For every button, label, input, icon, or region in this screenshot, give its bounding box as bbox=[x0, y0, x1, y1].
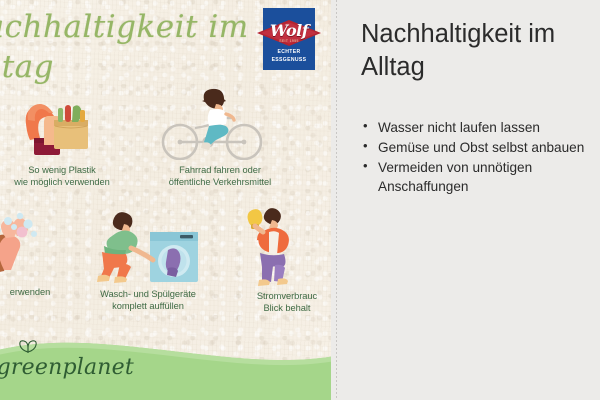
hashtag-greenplanet: #greenplanet bbox=[0, 355, 134, 380]
person-with-lightbulb-icon bbox=[222, 208, 331, 286]
tip-caption-bike: Fahrrad fahren oder öffentliche Verkehrs… bbox=[140, 165, 300, 189]
infographic-image-panel: Nachhaltigkeit im Alltag Wolf SEIT 1955 … bbox=[0, 0, 331, 400]
tip-caption-power: Stromverbrauc Blick behalt bbox=[222, 291, 331, 315]
tip-card-wash: Wasch- und Spülgeräte komplett auffüllen bbox=[68, 208, 228, 313]
tip-card-plastic: So wenig Plastik wie möglich verwenden bbox=[0, 96, 132, 189]
slide-canvas: Nachhaltigkeit im Alltag Wolf SEIT 1955 … bbox=[0, 0, 600, 400]
tip-caption-plastic: So wenig Plastik wie möglich verwenden bbox=[0, 165, 132, 189]
page-title: Nachhaltigkeit im Alltag bbox=[361, 18, 593, 84]
person-loading-washing-machine-icon bbox=[68, 208, 228, 284]
infographic-headline: Nachhaltigkeit im Alltag bbox=[0, 8, 258, 87]
text-content-panel: Nachhaltigkeit im Alltag Wasser nicht la… bbox=[337, 0, 600, 400]
logo-established-text: SEIT 1955 bbox=[263, 39, 315, 43]
logo-wordmark: Wolf bbox=[263, 21, 315, 40]
list-item: Wasser nicht laufen lassen bbox=[362, 118, 594, 137]
wolf-brand-logo: Wolf SEIT 1955 ECHTER ESSGENUSS bbox=[263, 8, 315, 70]
bullet-list: Wasser nicht laufen lassen Gemüse und Ob… bbox=[362, 118, 594, 198]
butterfly-icon bbox=[18, 340, 38, 356]
person-riding-bicycle-icon bbox=[140, 88, 300, 160]
logo-tagline: ECHTER ESSGENUSS bbox=[263, 49, 315, 65]
list-item: Gemüse und Obst selbst anbauen bbox=[362, 138, 594, 157]
tip-caption-wash: Wasch- und Spülgeräte komplett auffüllen bbox=[68, 289, 228, 313]
tip-card-power: Stromverbrauc Blick behalt bbox=[222, 208, 331, 315]
tip-card-bike: Fahrrad fahren oder öffentliche Verkehrs… bbox=[140, 88, 300, 189]
list-item: Vermeiden von unnötigen Anschaffungen bbox=[362, 158, 594, 196]
person-with-grocery-bag-icon bbox=[0, 96, 132, 160]
